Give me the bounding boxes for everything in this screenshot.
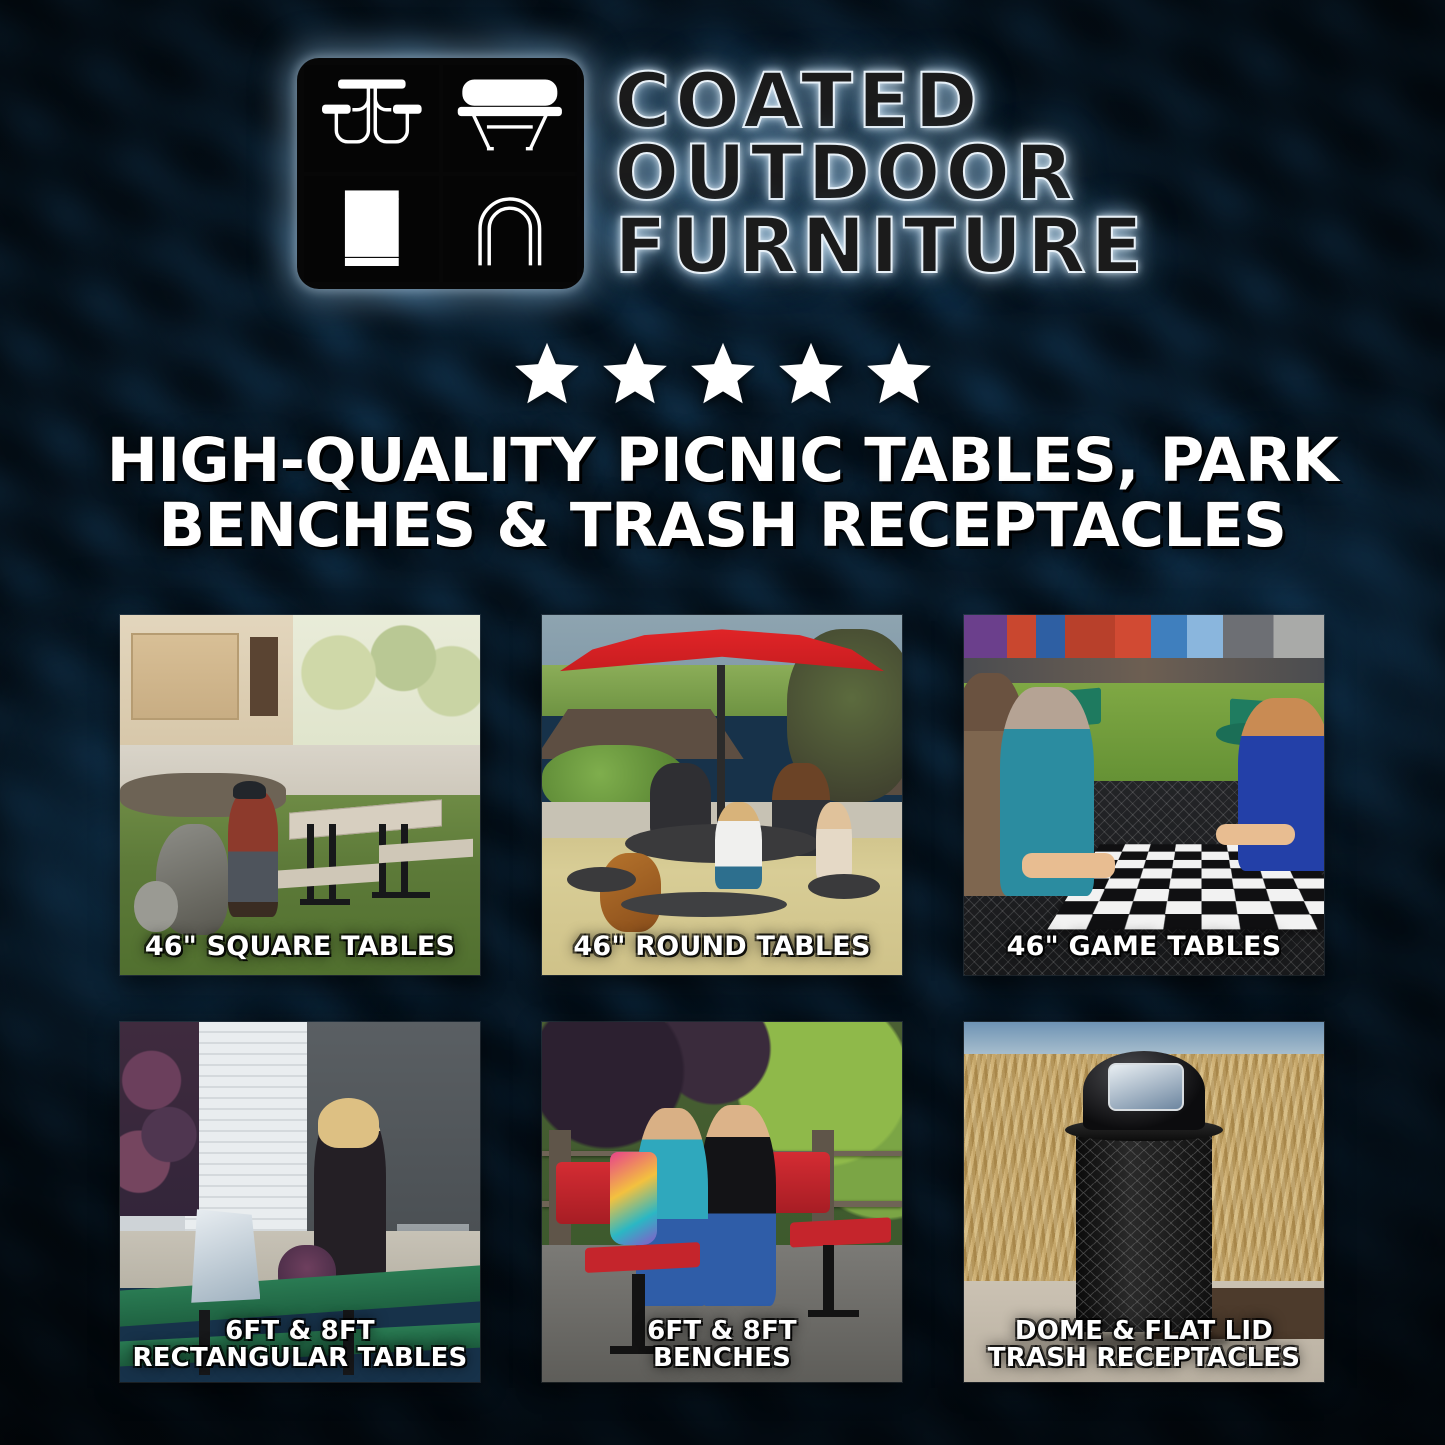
product-caption: 46" ROUND TABLES — [548, 933, 896, 961]
star-icon — [510, 338, 584, 410]
bench-table-side-icon — [443, 65, 578, 172]
scene-square-tables — [120, 615, 480, 975]
product-tile-rectangular-tables[interactable]: 6FT & 8FT RECTANGULAR TABLES — [120, 1022, 480, 1382]
product-grid: 46" SQUARE TABLES — [120, 615, 1325, 1382]
product-caption: 6FT & 8FT RECTANGULAR TABLES — [126, 1318, 474, 1372]
headline-line-2: BENCHES & TRASH RECEPTACLES — [60, 493, 1385, 558]
page-title: HIGH-QUALITY PICNIC TABLES, PARK BENCHES… — [60, 428, 1385, 559]
brand-logo-mark — [297, 58, 584, 289]
trash-receptacle-icon — [304, 176, 439, 283]
product-tile-trash-receptacles[interactable]: DOME & FLAT LID TRASH RECEPTACLES — [964, 1022, 1324, 1382]
product-caption: 6FT & 8FT BENCHES — [548, 1318, 896, 1372]
product-caption: DOME & FLAT LID TRASH RECEPTACLES — [970, 1318, 1318, 1372]
product-tile-benches[interactable]: 6FT & 8FT BENCHES — [542, 1022, 902, 1382]
star-rating — [0, 338, 1445, 410]
product-caption: 46" GAME TABLES — [970, 933, 1318, 961]
star-icon — [598, 338, 672, 410]
star-icon — [686, 338, 760, 410]
brand-wordmark: COATED OUTDOOR FURNITURE — [614, 67, 1147, 280]
advertisement-canvas: COATED OUTDOOR FURNITURE HIGH-QUALITY PI… — [0, 0, 1445, 1445]
wordmark-line-2: OUTDOOR — [614, 139, 1078, 207]
brand-header: COATED OUTDOOR FURNITURE — [0, 58, 1445, 289]
star-icon — [774, 338, 848, 410]
headline-line-1: HIGH-QUALITY PICNIC TABLES, PARK — [107, 425, 1338, 496]
star-icon — [862, 338, 936, 410]
product-tile-game-tables[interactable]: 46" GAME TABLES — [964, 615, 1324, 975]
wordmark-line-1: COATED — [614, 67, 982, 135]
wordmark-line-3: FURNITURE — [614, 212, 1147, 280]
bike-rack-arch-icon — [443, 176, 578, 283]
picnic-table-front-icon — [304, 65, 439, 172]
scene-game-tables — [964, 615, 1324, 975]
scene-round-tables — [542, 615, 902, 975]
product-tile-square-tables[interactable]: 46" SQUARE TABLES — [120, 615, 480, 975]
product-caption: 46" SQUARE TABLES — [126, 933, 474, 961]
product-tile-round-tables[interactable]: 46" ROUND TABLES — [542, 615, 902, 975]
